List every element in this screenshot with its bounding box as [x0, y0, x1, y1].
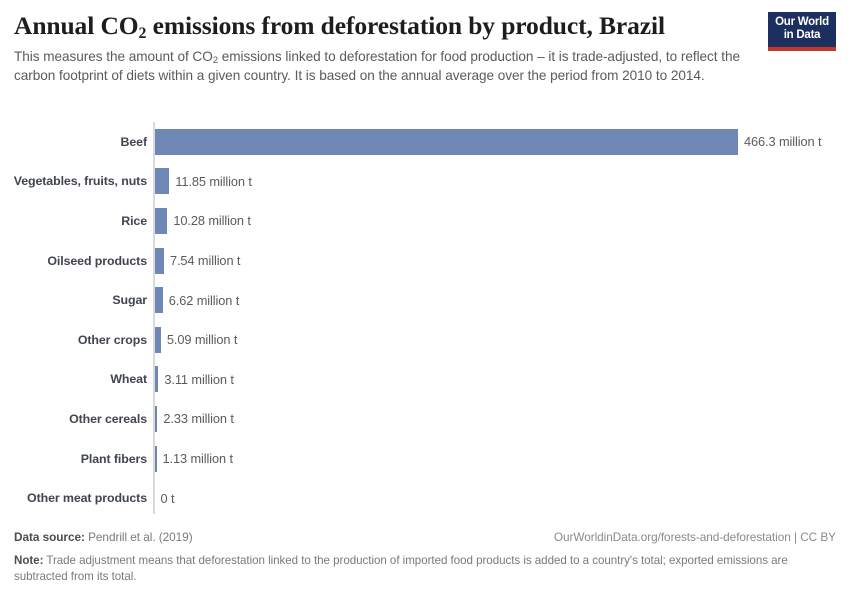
- subtitle-subscript: 2: [213, 55, 218, 66]
- chart-container: Annual CO2 emissions from deforestation …: [0, 0, 850, 600]
- bar-row[interactable]: Other cereals2.33 million t: [0, 399, 850, 439]
- bar[interactable]: [155, 168, 170, 194]
- bar-and-value: 5.09 million t: [155, 320, 238, 360]
- bar-value-label: 466.3 million t: [738, 134, 821, 149]
- bar-category-label: Beef: [0, 135, 147, 149]
- bar-category-label: Other meat products: [0, 491, 147, 505]
- footer-note-value: Trade adjustment means that deforestatio…: [14, 554, 788, 583]
- bar-value-label: 5.09 million t: [161, 332, 237, 347]
- footer-url[interactable]: OurWorldinData.org/forests-and-deforesta…: [554, 530, 836, 544]
- bar-and-value: 3.11 million t: [155, 360, 234, 400]
- bar-value-label: 6.62 million t: [163, 293, 239, 308]
- footer-source-row: Data source: Pendrill et al. (2019) OurW…: [14, 530, 836, 544]
- data-source-key: Data source:: [14, 530, 85, 544]
- bar-value-label: 2.33 million t: [157, 411, 233, 426]
- bar-category-label: Other crops: [0, 333, 147, 347]
- bar-value-label: 3.11 million t: [158, 372, 234, 387]
- bar-category-label: Sugar: [0, 293, 147, 307]
- bar-and-value: 0 t: [155, 478, 175, 518]
- title-subscript: 2: [139, 25, 147, 42]
- bar-and-value: 466.3 million t: [155, 122, 822, 162]
- bar-category-label: Vegetables, fruits, nuts: [0, 174, 147, 188]
- owid-logo-line-2: in Data: [773, 29, 831, 42]
- bar-and-value: 6.62 million t: [155, 280, 240, 320]
- bar-rows: Beef466.3 million tVegetables, fruits, n…: [0, 122, 850, 518]
- bar-row[interactable]: Other meat products0 t: [0, 478, 850, 518]
- bar-category-label: Rice: [0, 214, 147, 228]
- chart-subtitle: This measures the amount of CO2 emission…: [14, 47, 756, 86]
- data-source: Data source: Pendrill et al. (2019): [14, 530, 193, 544]
- owid-logo[interactable]: Our World in Data: [768, 12, 836, 51]
- bar-value-label: 7.54 million t: [164, 253, 240, 268]
- footer-note: Note: Trade adjustment means that defore…: [14, 553, 814, 586]
- footer-note-key: Note:: [14, 554, 43, 567]
- chart-header: Annual CO2 emissions from deforestation …: [14, 12, 836, 85]
- bar-and-value: 10.28 million t: [155, 201, 251, 241]
- title-prefix: Annual CO: [14, 11, 139, 40]
- bar-row[interactable]: Oilseed products7.54 million t: [0, 241, 850, 281]
- bar-and-value: 2.33 million t: [155, 399, 234, 439]
- bar-value-label: 10.28 million t: [167, 213, 250, 228]
- bar-and-value: 7.54 million t: [155, 241, 241, 281]
- bar[interactable]: [155, 248, 164, 274]
- bar-row[interactable]: Sugar6.62 million t: [0, 280, 850, 320]
- bar-row[interactable]: Plant fibers1.13 million t: [0, 439, 850, 479]
- bar-row[interactable]: Rice10.28 million t: [0, 201, 850, 241]
- page-title: Annual CO2 emissions from deforestation …: [14, 12, 836, 41]
- subtitle-part-one: This measures the amount of CO: [14, 49, 213, 64]
- bar-category-label: Other cereals: [0, 412, 147, 426]
- bar[interactable]: [155, 208, 168, 234]
- bar[interactable]: [155, 129, 739, 155]
- bar-and-value: 11.85 million t: [155, 162, 252, 202]
- bar-category-label: Plant fibers: [0, 452, 147, 466]
- bar-row[interactable]: Other crops5.09 million t: [0, 320, 850, 360]
- bar-category-label: Wheat: [0, 372, 147, 386]
- title-suffix: emissions from deforestation by product,…: [146, 11, 665, 40]
- bar-category-label: Oilseed products: [0, 254, 147, 268]
- bar[interactable]: [155, 287, 163, 313]
- bar-value-label: 1.13 million t: [157, 451, 233, 466]
- bar-value-label: 0 t: [155, 491, 175, 506]
- data-source-value: Pendrill et al. (2019): [85, 530, 193, 544]
- bar-row[interactable]: Vegetables, fruits, nuts11.85 million t: [0, 162, 850, 202]
- bar-value-label: 11.85 million t: [169, 174, 252, 189]
- bar-row[interactable]: Beef466.3 million t: [0, 122, 850, 162]
- bar-row[interactable]: Wheat3.11 million t: [0, 360, 850, 400]
- plot-area: Beef466.3 million tVegetables, fruits, n…: [0, 122, 850, 514]
- bar-and-value: 1.13 million t: [155, 439, 233, 479]
- chart-footer: Data source: Pendrill et al. (2019) OurW…: [14, 530, 836, 586]
- owid-logo-line-1: Our World: [773, 16, 831, 29]
